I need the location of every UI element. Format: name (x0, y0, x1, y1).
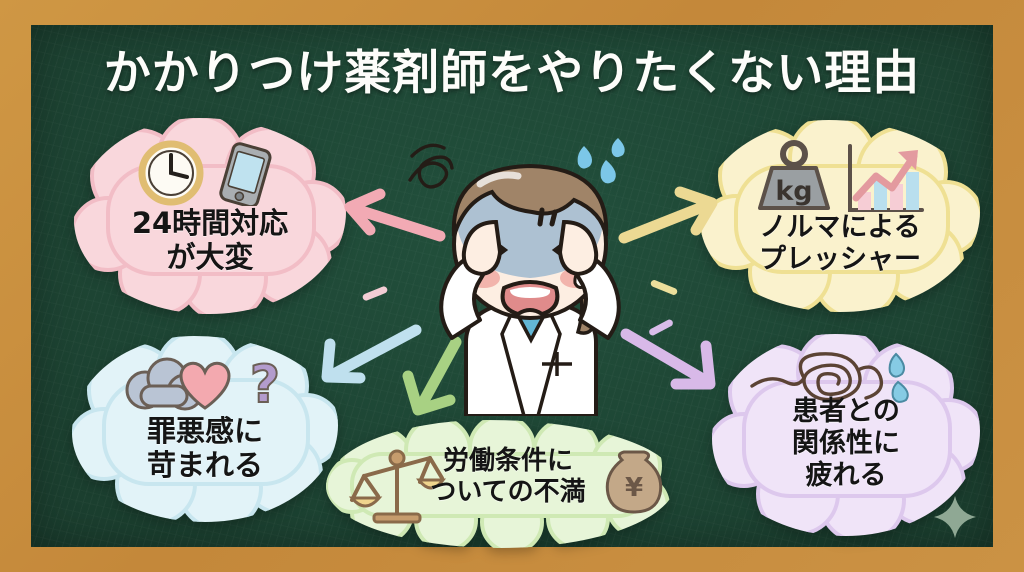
icons-guilt: ? (72, 354, 338, 422)
clock-icon (142, 144, 200, 202)
rising-bar-chart-icon (850, 146, 922, 210)
bubble-text-hours: 24時間対応 が大変 (74, 206, 346, 274)
bubble-quota[interactable]: kg ノルマによる プレッシャー (700, 120, 980, 312)
infographic-stage: かかりつけ薬剤師をやりたくない理由 (0, 0, 1024, 572)
sweat-drops-icon (578, 138, 625, 183)
stressed-pharmacist (406, 126, 656, 416)
bubble-hours[interactable]: 24時間対応 が大変 (74, 118, 346, 314)
bubble-text-quota: ノルマによる プレッシャー (700, 212, 980, 276)
question-mark-icon: ? (250, 355, 280, 415)
kg-label: kg (775, 176, 812, 207)
svg-text:?: ? (250, 355, 280, 415)
tangled-scribble-icon (752, 354, 881, 400)
sweat-drops-icon (890, 354, 908, 402)
kg-weight-icon: kg (760, 143, 828, 208)
bubble-guilt[interactable]: ? 罪悪感に 苛まれる (72, 336, 338, 522)
lab-coat (466, 306, 596, 416)
page-title: かかりつけ薬剤師をやりたくない理由 (0, 34, 1024, 103)
frustration-scribble-icon (410, 145, 452, 187)
four-point-sparkle-icon (934, 496, 976, 538)
bubble-text-guilt: 罪悪感に 苛まれる (72, 414, 338, 482)
bubble-text-patient: 患者との 関係性に 疲れる (712, 396, 980, 492)
icons-quota: kg (700, 140, 980, 220)
smartphone-icon (219, 142, 272, 206)
bubble-text-work: 労働条件に ついての不満 (326, 446, 676, 507)
bubble-work[interactable]: ¥ 労働条件に ついての不満 (326, 420, 676, 548)
icons-hours (74, 140, 346, 210)
